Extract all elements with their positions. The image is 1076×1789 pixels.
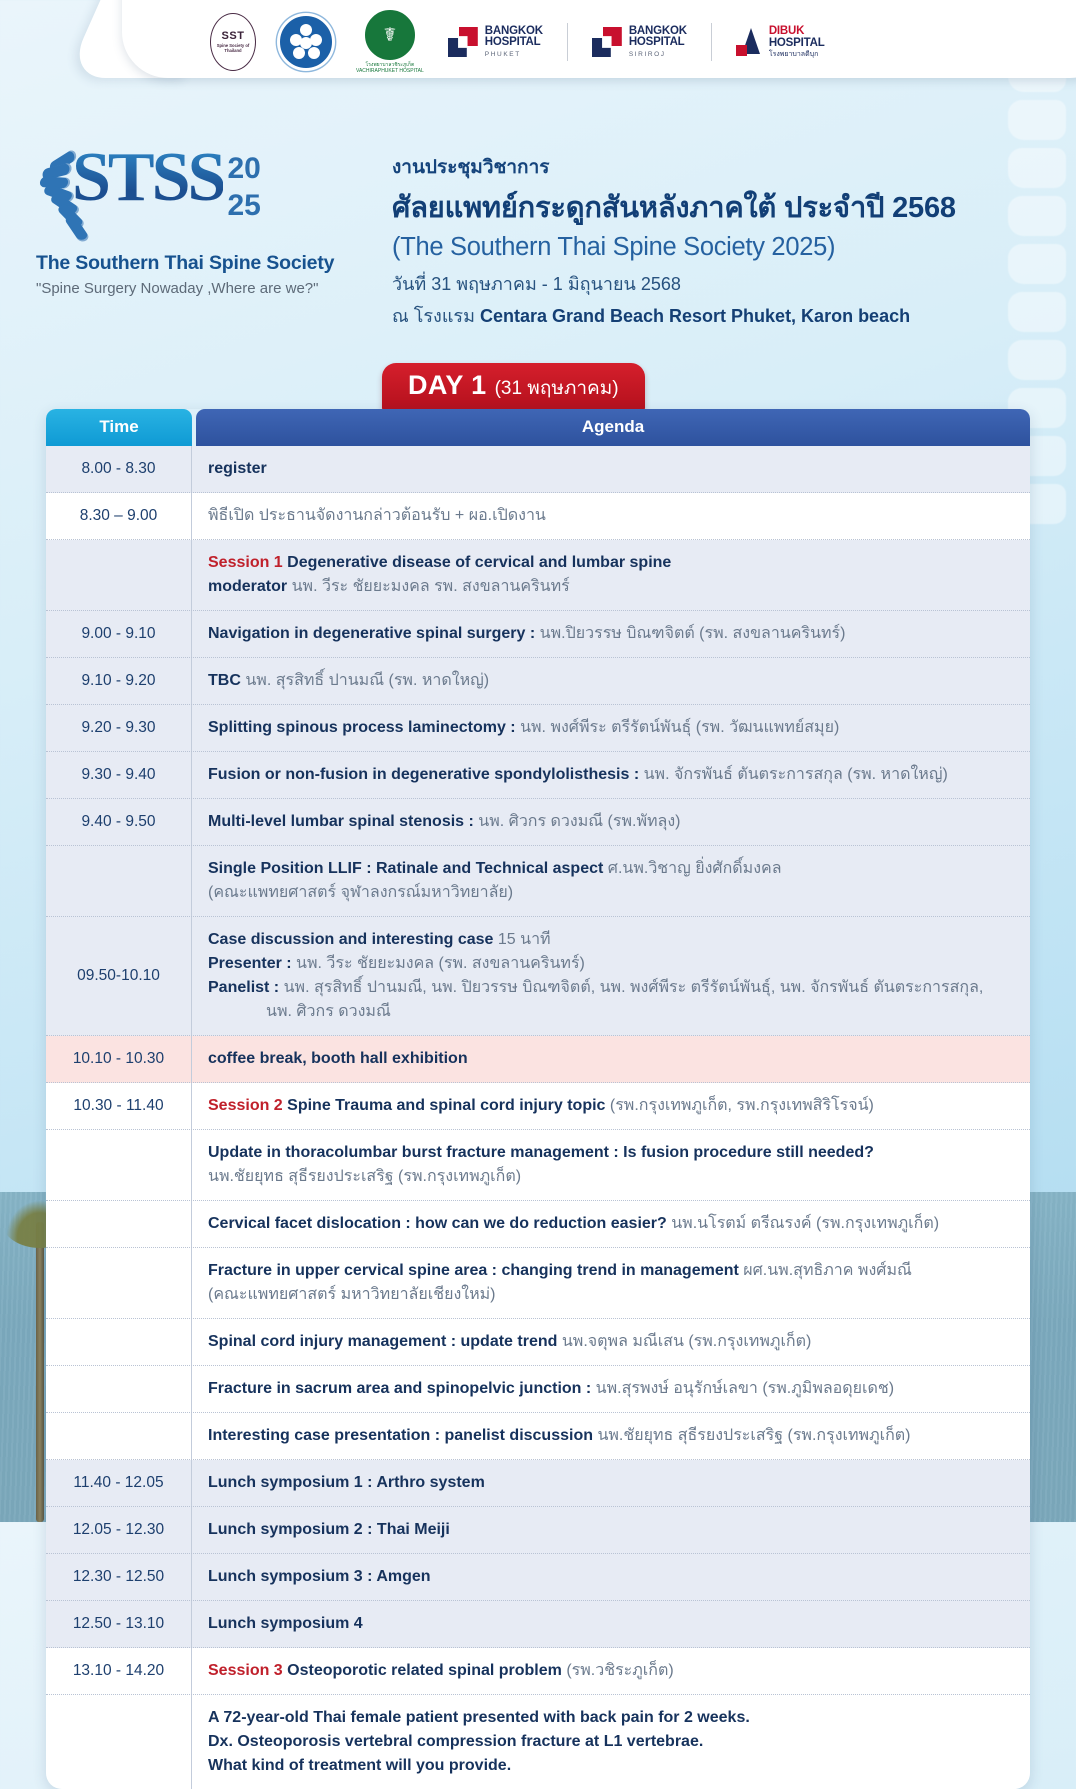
table-row: 9.20 - 9.30Splitting spinous process lam… [46, 705, 1030, 752]
agenda-speaker: ผศ.นพ.สุทธิภาค พงศ์มณี [743, 1262, 912, 1279]
row-time [46, 1130, 192, 1200]
agenda-line: Single Position LLIF : Ratinale and Tech… [208, 857, 1016, 881]
row-time [46, 1201, 192, 1247]
agenda-speaker: (คณะแพทยศาสตร์ มหาวิทยาลัยเชียงใหม่) [208, 1286, 495, 1303]
title-main-thai: ศัลยแพทย์กระดูกสันหลังภาคใต้ ประจำปี 256… [392, 184, 956, 230]
agenda-topic: Fusion or non-fusion in degenerative spo… [208, 766, 644, 783]
row-agenda: A 72-year-old Thai female patient presen… [192, 1695, 1030, 1789]
session-label: Session 1 [208, 554, 283, 571]
table-row: Update in thoracolumbar burst fracture m… [46, 1130, 1030, 1201]
agenda-speaker: นพ.ชัยยุทธ สุธีรยงประเสริฐ (รพ.กรุงเทพภู… [597, 1427, 910, 1444]
agenda-speaker: นพ.จตุพล มณีเสน (รพ.กรุงเทพภูเก็ต) [562, 1333, 812, 1350]
agenda-topic: Splitting spinous process laminectomy : [208, 719, 520, 736]
agenda-line: Splitting spinous process laminectomy : … [208, 716, 1016, 740]
venue-name: Centara Grand Beach Resort Phuket, Karon… [480, 306, 910, 326]
dibuk-line2: HOSPITAL [769, 38, 825, 50]
bangkok-hospital-phuket-logo: BANGKOK HOSPITAL PHUKET [448, 26, 543, 59]
row-time: 9.10 - 9.20 [46, 658, 192, 704]
agenda-speaker: นพ. วีระ ชัยยะมงคล รพ. สงขลานครินทร์ [292, 578, 570, 595]
society-name: The Southern Thai Spine Society [36, 252, 366, 275]
agenda-speaker: ศ.นพ.วิชาญ ยิ่งศักดิ์มงคล [608, 860, 782, 877]
row-time: 10.10 - 10.30 [46, 1036, 192, 1082]
agenda-table-header: Time Agenda [46, 409, 1030, 446]
agenda-line: พิธีเปิด ประธานจัดงานกล่าวต้อนรับ + ผอ.เ… [208, 504, 1016, 528]
spine-logo-icon [36, 154, 82, 250]
table-row: 11.40 - 12.05Lunch symposium 1 : Arthro … [46, 1460, 1030, 1507]
agenda-speaker: (รพ.วชิระภูเก็ต) [566, 1662, 673, 1679]
row-time: 9.20 - 9.30 [46, 705, 192, 751]
row-agenda: พิธีเปิด ประธานจัดงานกล่าวต้อนรับ + ผอ.เ… [192, 493, 1030, 539]
agenda-line: TBC นพ. สุรสิทธิ์ ปานมณี (รพ. หาดใหญ่) [208, 669, 1016, 693]
row-time [46, 1413, 192, 1459]
stss-year-top: 20 [227, 154, 260, 183]
table-row: 9.00 - 9.10Navigation in degenerative sp… [46, 611, 1030, 658]
row-time: 10.30 - 11.40 [46, 1083, 192, 1129]
agenda-speaker: นพ. ศิวกร ดวงมณี (รพ.พัทลุง) [478, 813, 680, 830]
agenda-topic: Interesting case presentation : panelist… [208, 1427, 597, 1444]
agenda-topic: Navigation in degenerative spinal surger… [208, 625, 540, 642]
row-agenda: Splitting spinous process laminectomy : … [192, 705, 1030, 751]
partner-logo-strip: SST Spine Society of Thailand ☤ โรงพยาบา… [210, 8, 825, 76]
agenda-topic: moderator [208, 578, 292, 595]
table-row: A 72-year-old Thai female patient presen… [46, 1695, 1030, 1789]
sst-logo-subtitle: Spine Society of Thailand [211, 43, 255, 54]
row-agenda: Lunch symposium 4 [192, 1601, 1030, 1647]
agenda-speaker: นพ. สุรสิทธิ์ ปานมณี, นพ. ปิยวรรษ บิณฑจิ… [284, 979, 984, 996]
table-row: 12.30 - 12.50Lunch symposium 3 : Amgen [46, 1554, 1030, 1601]
table-row: 9.40 - 9.50Multi-level lumbar spinal ste… [46, 799, 1030, 846]
row-agenda: Single Position LLIF : Ratinale and Tech… [192, 846, 1030, 916]
agenda-line: (คณะแพทยศาสตร์ จุฬาลงกรณ์มหาวิทยาลัย) [208, 881, 1016, 905]
event-venue: ณ โรงแรม Centara Grand Beach Resort Phuk… [392, 301, 956, 330]
agenda-line: (คณะแพทยศาสตร์ มหาวิทยาลัยเชียงใหม่) [208, 1283, 1016, 1307]
agenda-line: Dx. Osteoporosis vertebral compression f… [208, 1730, 1016, 1754]
table-row: 9.30 - 9.40Fusion or non-fusion in degen… [46, 752, 1030, 799]
row-time: 9.30 - 9.40 [46, 752, 192, 798]
agenda-topic: What kind of treatment will you provide. [208, 1757, 511, 1774]
agenda-topic: Panelist : [208, 979, 284, 996]
agenda-topic: Spine Trauma and spinal cord injury topi… [283, 1097, 610, 1114]
agenda-line: Cervical facet dislocation : how can we … [208, 1212, 1016, 1236]
table-row: 10.10 - 10.30coffee break, booth hall ex… [46, 1036, 1030, 1083]
table-row: 12.05 - 12.30Lunch symposium 2 : Thai Me… [46, 1507, 1030, 1554]
agenda-speaker: พิธีเปิด ประธานจัดงานกล่าวต้อนรับ + ผอ.เ… [208, 507, 546, 524]
session-label: Session 2 [208, 1097, 283, 1114]
agenda-topic: Presenter : [208, 955, 296, 972]
agenda-speaker: นพ.ปิยวรรษ บิณฑจิตต์ (รพ. สงขลานครินทร์) [540, 625, 846, 642]
table-row: 9.10 - 9.20TBC นพ. สุรสิทธิ์ ปานมณี (รพ.… [46, 658, 1030, 705]
dibuk-line1: DIBUK [769, 26, 825, 38]
row-time: 8.00 - 8.30 [46, 446, 192, 492]
sst-logo: SST Spine Society of Thailand [210, 13, 256, 71]
agenda-line: Fracture in upper cervical spine area : … [208, 1259, 1016, 1283]
table-row: 09.50-10.10Case discussion and interesti… [46, 917, 1030, 1036]
royal-college-logo [280, 16, 332, 68]
agenda-speaker: นพ. ศิวกร ดวงมณี [266, 1003, 391, 1020]
row-agenda: Lunch symposium 3 : Amgen [192, 1554, 1030, 1600]
row-agenda: Cervical facet dislocation : how can we … [192, 1201, 1030, 1247]
dibuk-hospital-logo: DIBUK HOSPITAL โรงพยาบาลดีบุก [736, 26, 825, 58]
stss-year-bottom: 25 [227, 191, 260, 220]
row-agenda: Interesting case presentation : panelist… [192, 1413, 1030, 1459]
dibuk-sub: โรงพยาบาลดีบุก [769, 51, 825, 58]
agenda-line: Fusion or non-fusion in degenerative spo… [208, 763, 1016, 787]
agenda-line: นพ.ชัยยุทธ สุธีรยงประเสริฐ (รพ.กรุงเทพภู… [208, 1165, 1016, 1189]
agenda-table-body: 8.00 - 8.30register8.30 – 9.00พิธีเปิด ป… [46, 446, 1030, 1789]
sst-logo-title: SST [211, 31, 255, 43]
agenda-line: Presenter : นพ. วีระ ชัยยะมงคล (รพ. สงขล… [208, 952, 1016, 976]
agenda-speaker: (รพ.กรุงเทพภูเก็ต, รพ.กรุงเทพสิริโรจน์) [610, 1097, 874, 1114]
venue-prefix: ณ โรงแรม [392, 306, 480, 326]
event-title-block: งานประชุมวิชาการ ศัลยแพทย์กระดูกสันหลังภ… [392, 152, 956, 330]
bangkok-hospital-mark-icon [448, 27, 478, 57]
event-date: วันที่ 31 พฤษภาคม - 1 มิถุนายน 2568 [392, 269, 956, 298]
day-banner: DAY 1 (31 พฤษภาคม) [382, 363, 645, 412]
vachiraphuket-name-en: VACHIRAPHUKET HOSPITAL [356, 68, 424, 74]
row-agenda: Spinal cord injury management : update t… [192, 1319, 1030, 1365]
table-row: Cervical facet dislocation : how can we … [46, 1201, 1030, 1248]
row-agenda: Fracture in sacrum area and spinopelvic … [192, 1366, 1030, 1412]
row-agenda: Case discussion and interesting case 15 … [192, 917, 1030, 1035]
agenda-topic: register [208, 460, 267, 477]
agenda-topic: Cervical facet dislocation : how can we … [208, 1215, 671, 1232]
agenda-line: Navigation in degenerative spinal surger… [208, 622, 1016, 646]
agenda-speaker: นพ. วีระ ชัยยะมงคล (รพ. สงขลานครินทร์) [296, 955, 585, 972]
agenda-line: Spinal cord injury management : update t… [208, 1330, 1016, 1354]
agenda-topic: Fracture in upper cervical spine area : … [208, 1262, 743, 1279]
table-row: Single Position LLIF : Ratinale and Tech… [46, 846, 1030, 917]
row-time [46, 1248, 192, 1318]
bh-siriroj-sub: SIRIROJ [629, 52, 687, 59]
agenda-line: Lunch symposium 3 : Amgen [208, 1565, 1016, 1589]
event-brand-block: STSS 20 25 The Southern Thai Spine Socie… [36, 146, 366, 297]
agenda-speaker: 15 นาที [498, 931, 551, 948]
row-time [46, 846, 192, 916]
row-agenda: Update in thoracolumbar burst fracture m… [192, 1130, 1030, 1200]
agenda-topic: Dx. Osteoporosis vertebral compression f… [208, 1733, 703, 1750]
agenda-line: Panelist : นพ. สุรสิทธิ์ ปานมณี, นพ. ปิย… [208, 976, 1016, 1000]
row-agenda: Session 2 Spine Trauma and spinal cord i… [192, 1083, 1030, 1129]
agenda-line: register [208, 457, 1016, 481]
agenda-topic: Osteoporotic related spinal problem [283, 1662, 567, 1679]
agenda-topic: Single Position LLIF : Ratinale and Tech… [208, 860, 608, 877]
agenda-line: moderator นพ. วีระ ชัยยะมงคล รพ. สงขลานค… [208, 575, 1016, 599]
table-row: 13.10 - 14.20Session 3 Osteoporotic rela… [46, 1648, 1030, 1695]
agenda-line: Lunch symposium 1 : Arthro system [208, 1471, 1016, 1495]
row-time: 12.50 - 13.10 [46, 1601, 192, 1647]
row-time: 9.00 - 9.10 [46, 611, 192, 657]
agenda-line: Update in thoracolumbar burst fracture m… [208, 1141, 1016, 1165]
row-agenda: Lunch symposium 1 : Arthro system [192, 1460, 1030, 1506]
row-agenda: coffee break, booth hall exhibition [192, 1036, 1030, 1082]
agenda-topic: coffee break, booth hall exhibition [208, 1050, 468, 1067]
agenda-topic: Multi-level lumbar spinal stenosis : [208, 813, 478, 830]
agenda-topic: Lunch symposium 2 : Thai Meiji [208, 1521, 450, 1538]
row-agenda: Multi-level lumbar spinal stenosis : นพ.… [192, 799, 1030, 845]
bh-siriroj-line2: HOSPITAL [629, 37, 687, 49]
row-agenda: TBC นพ. สุรสิทธิ์ ปานมณี (รพ. หาดใหญ่) [192, 658, 1030, 704]
logo-divider [711, 23, 712, 61]
agenda-speaker: นพ. พงศ์พีระ ตรีรัตน์พันธุ์ (รพ. วัฒนแพท… [520, 719, 839, 736]
agenda-line: Session 1 Degenerative disease of cervic… [208, 551, 1016, 575]
agenda-line: Fracture in sacrum area and spinopelvic … [208, 1377, 1016, 1401]
row-agenda: Lunch symposium 2 : Thai Meiji [192, 1507, 1030, 1553]
agenda-line: coffee break, booth hall exhibition [208, 1047, 1016, 1071]
agenda-speaker: นพ. สุรสิทธิ์ ปานมณี (รพ. หาดใหญ่) [245, 672, 489, 689]
row-time: 11.40 - 12.05 [46, 1460, 192, 1506]
day-label: DAY 1 [408, 370, 487, 401]
agenda-speaker: (คณะแพทยศาสตร์ จุฬาลงกรณ์มหาวิทยาลัย) [208, 884, 513, 901]
row-time [46, 1319, 192, 1365]
agenda-topic: Update in thoracolumbar burst fracture m… [208, 1144, 874, 1161]
row-agenda: register [192, 446, 1030, 492]
row-time: 12.05 - 12.30 [46, 1507, 192, 1553]
table-row: 8.00 - 8.30register [46, 446, 1030, 493]
agenda-line: A 72-year-old Thai female patient presen… [208, 1706, 1016, 1730]
table-row: Fracture in sacrum area and spinopelvic … [46, 1366, 1030, 1413]
column-header-agenda: Agenda [196, 409, 1030, 446]
agenda-topic: Case discussion and interesting case [208, 931, 498, 948]
table-row: Session 1 Degenerative disease of cervic… [46, 540, 1030, 611]
agenda-line: Lunch symposium 4 [208, 1612, 1016, 1636]
row-agenda: Navigation in degenerative spinal surger… [192, 611, 1030, 657]
row-agenda: Session 1 Degenerative disease of cervic… [192, 540, 1030, 610]
bh-phuket-sub: PHUKET [485, 52, 543, 59]
agenda-topic: TBC [208, 672, 245, 689]
table-row: 12.50 - 13.10Lunch symposium 4 [46, 1601, 1030, 1648]
day-date: (31 พฤษภาคม) [495, 373, 619, 403]
stss-acronym: STSS [72, 146, 223, 210]
table-row: Spinal cord injury management : update t… [46, 1319, 1030, 1366]
row-time [46, 1695, 192, 1789]
agenda-line: Multi-level lumbar spinal stenosis : นพ.… [208, 810, 1016, 834]
row-agenda: Fracture in upper cervical spine area : … [192, 1248, 1030, 1318]
row-time: 12.30 - 12.50 [46, 1554, 192, 1600]
society-slogan: "Spine Surgery Nowaday ,Where are we?" [36, 280, 366, 297]
table-row: 10.30 - 11.40Session 2 Spine Trauma and … [46, 1083, 1030, 1130]
agenda-line: Interesting case presentation : panelist… [208, 1424, 1016, 1448]
row-time: 9.40 - 9.50 [46, 799, 192, 845]
row-time: 09.50-10.10 [46, 917, 192, 1035]
title-kicker: งานประชุมวิชาการ [392, 152, 956, 182]
row-time: 8.30 – 9.00 [46, 493, 192, 539]
agenda-topic: Fracture in sacrum area and spinopelvic … [208, 1380, 596, 1397]
row-agenda: Fusion or non-fusion in degenerative spo… [192, 752, 1030, 798]
agenda-topic: A 72-year-old Thai female patient presen… [208, 1709, 750, 1726]
row-time [46, 1366, 192, 1412]
bangkok-hospital-siriroj-logo: BANGKOK HOSPITAL SIRIROJ [592, 26, 687, 59]
agenda-table: Time Agenda 8.00 - 8.30register8.30 – 9.… [46, 409, 1030, 1789]
session-label: Session 3 [208, 1662, 283, 1679]
agenda-line: Session 3 Osteoporotic related spinal pr… [208, 1659, 1016, 1683]
table-row: Fracture in upper cervical spine area : … [46, 1248, 1030, 1319]
row-agenda: Session 3 Osteoporotic related spinal pr… [192, 1648, 1030, 1694]
table-row: 8.30 – 9.00พิธีเปิด ประธานจัดงานกล่าวต้อ… [46, 493, 1030, 540]
agenda-line: นพ. ศิวกร ดวงมณี [208, 1000, 1016, 1024]
agenda-speaker: นพ.สุรพงษ์ อนุรักษ์เลขา (รพ.ภูมิพลอดุยเด… [596, 1380, 894, 1397]
agenda-speaker: นพ. จักรพันธ์ ตันตระการสกุล (รพ. หาดใหญ่… [644, 766, 948, 783]
row-time: 13.10 - 14.20 [46, 1648, 192, 1694]
bh-phuket-line2: HOSPITAL [485, 37, 543, 49]
agenda-speaker: นพ.นโรตม์ ตรีณรงค์ (รพ.กรุงเทพภูเก็ต) [671, 1215, 939, 1232]
dibuk-mark-icon [736, 28, 762, 56]
vachiraphuket-hospital-logo: ☤ โรงพยาบาลวชิระภูเก็ต VACHIRAPHUKET HOS… [356, 10, 424, 74]
table-row: Interesting case presentation : panelist… [46, 1413, 1030, 1460]
agenda-topic: Lunch symposium 4 [208, 1615, 363, 1632]
palm-tree-icon [36, 1222, 44, 1522]
agenda-line: Case discussion and interesting case 15 … [208, 928, 1016, 952]
agenda-line: What kind of treatment will you provide. [208, 1754, 1016, 1778]
column-header-time: Time [46, 409, 192, 446]
agenda-topic: Lunch symposium 3 : Amgen [208, 1568, 431, 1585]
agenda-topic: Degenerative disease of cervical and lum… [283, 554, 672, 571]
agenda-topic: Lunch symposium 1 : Arthro system [208, 1474, 485, 1491]
bangkok-hospital-mark-icon [592, 27, 622, 57]
agenda-topic: Spinal cord injury management : update t… [208, 1333, 562, 1350]
agenda-line: Session 2 Spine Trauma and spinal cord i… [208, 1094, 1016, 1118]
title-main-english: (The Southern Thai Spine Society 2025) [392, 233, 956, 262]
logo-divider [567, 23, 568, 61]
row-time [46, 540, 192, 610]
agenda-speaker: นพ.ชัยยุทธ สุธีรยงประเสริฐ (รพ.กรุงเทพภู… [208, 1168, 521, 1185]
